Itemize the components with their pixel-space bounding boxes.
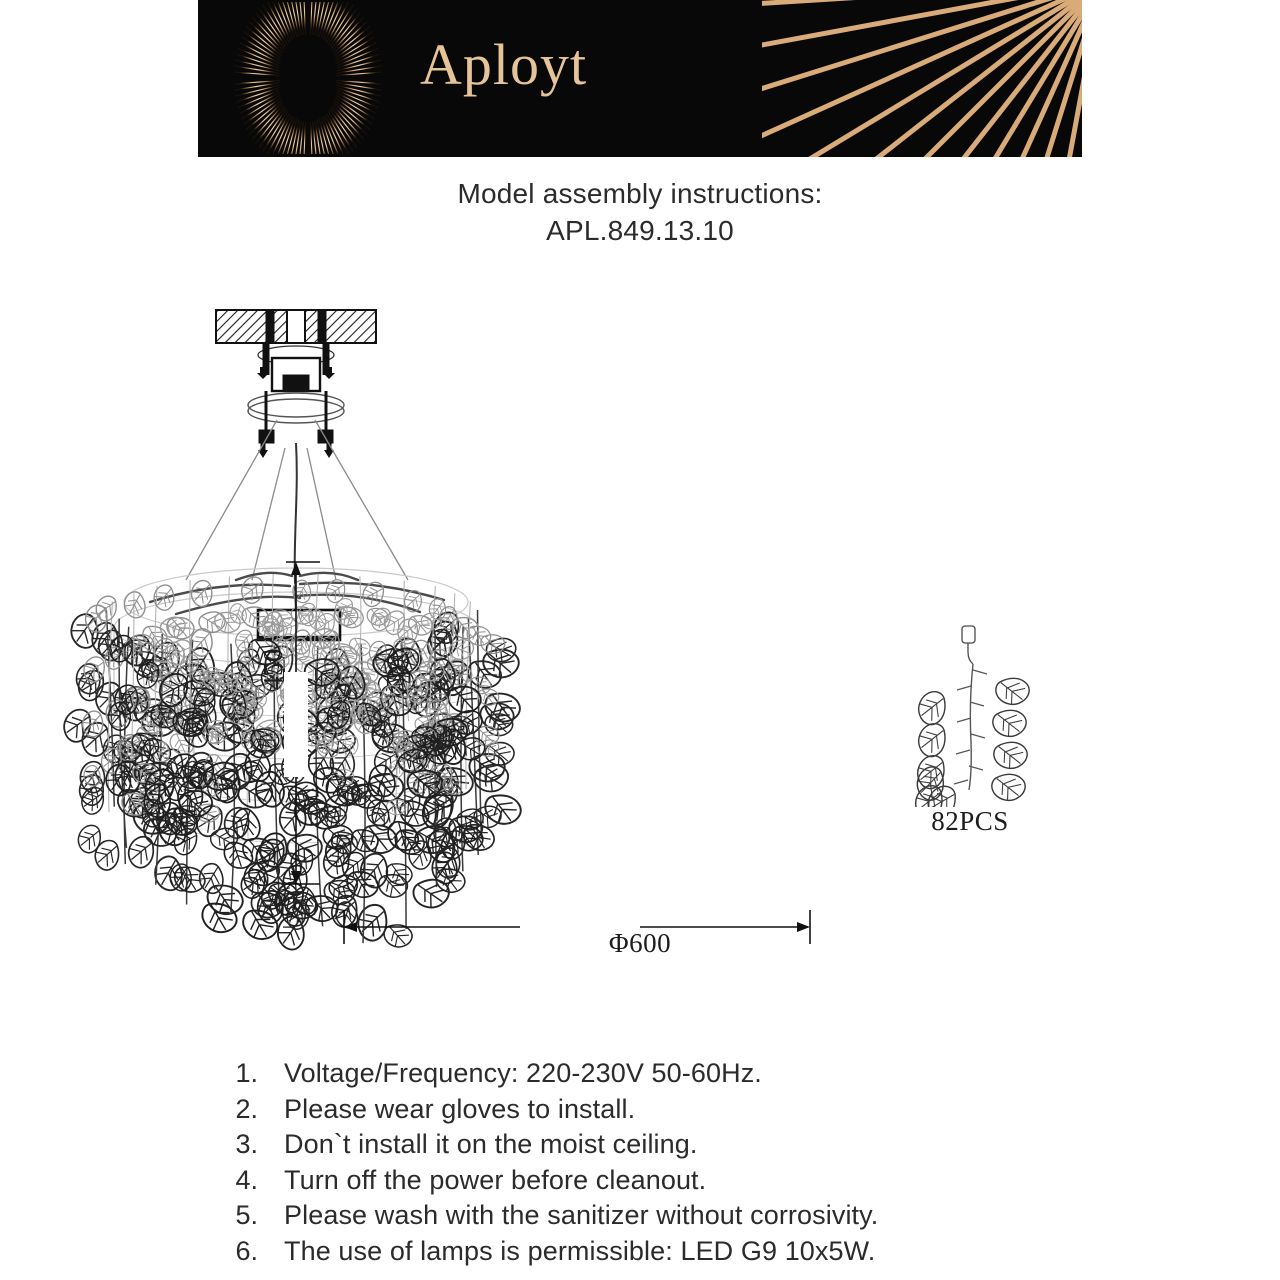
instruction-item: 2. Please wear gloves to install. [0, 1094, 1280, 1125]
brand-header-banner: Aployt [198, 0, 1082, 157]
instruction-text: Voltage/Frequency: 220-230V 50-60Hz. [284, 1058, 762, 1089]
brand-wordmark: Aployt [420, 36, 587, 94]
instruction-number: 2. [198, 1094, 258, 1125]
radial-rays-decoration [762, 0, 1082, 157]
instruction-sheet: Aployt Model assembly instructions: APL.… [0, 0, 1280, 1280]
instruction-text: Turn off the power before cleanout. [284, 1165, 706, 1196]
title-line-2: APL.849.13.10 [0, 213, 1280, 250]
instruction-number: 4. [198, 1165, 258, 1196]
instruction-item: 3. Don`t install it on the moist ceiling… [0, 1129, 1280, 1160]
height-dimension-label: 450 [258, 648, 289, 690]
instruction-text: Don`t install it on the moist ceiling. [284, 1129, 697, 1160]
sunburst-icon [232, 2, 384, 154]
instruction-number: 3. [198, 1129, 258, 1160]
instruction-item: 4. Turn off the power before cleanout. [0, 1165, 1280, 1196]
instruction-number: 5. [198, 1200, 258, 1231]
instruction-text: Please wear gloves to install. [284, 1094, 635, 1125]
title-line-1: Model assembly instructions: [0, 176, 1280, 213]
instructions-list: 1. Voltage/Frequency: 220-230V 50-60Hz. … [0, 1058, 1280, 1271]
instruction-text: The use of lamps is permissible: LED G9 … [284, 1236, 875, 1267]
assembly-drawing [0, 280, 1280, 980]
part-quantity-label: 82PCS [895, 806, 1045, 837]
instruction-item: 1. Voltage/Frequency: 220-230V 50-60Hz. [0, 1058, 1280, 1089]
instruction-number: 1. [198, 1058, 258, 1089]
instruction-item: 6. The use of lamps is permissible: LED … [0, 1236, 1280, 1267]
diameter-dimension-label: Φ600 [0, 928, 1280, 959]
instruction-item: 5. Please wash with the sanitizer withou… [0, 1200, 1280, 1231]
page-title: Model assembly instructions: APL.849.13.… [0, 176, 1280, 250]
instruction-number: 6. [198, 1236, 258, 1267]
instruction-text: Please wash with the sanitizer without c… [284, 1200, 878, 1231]
leaf-vine-branch-part-icon [895, 622, 1045, 812]
